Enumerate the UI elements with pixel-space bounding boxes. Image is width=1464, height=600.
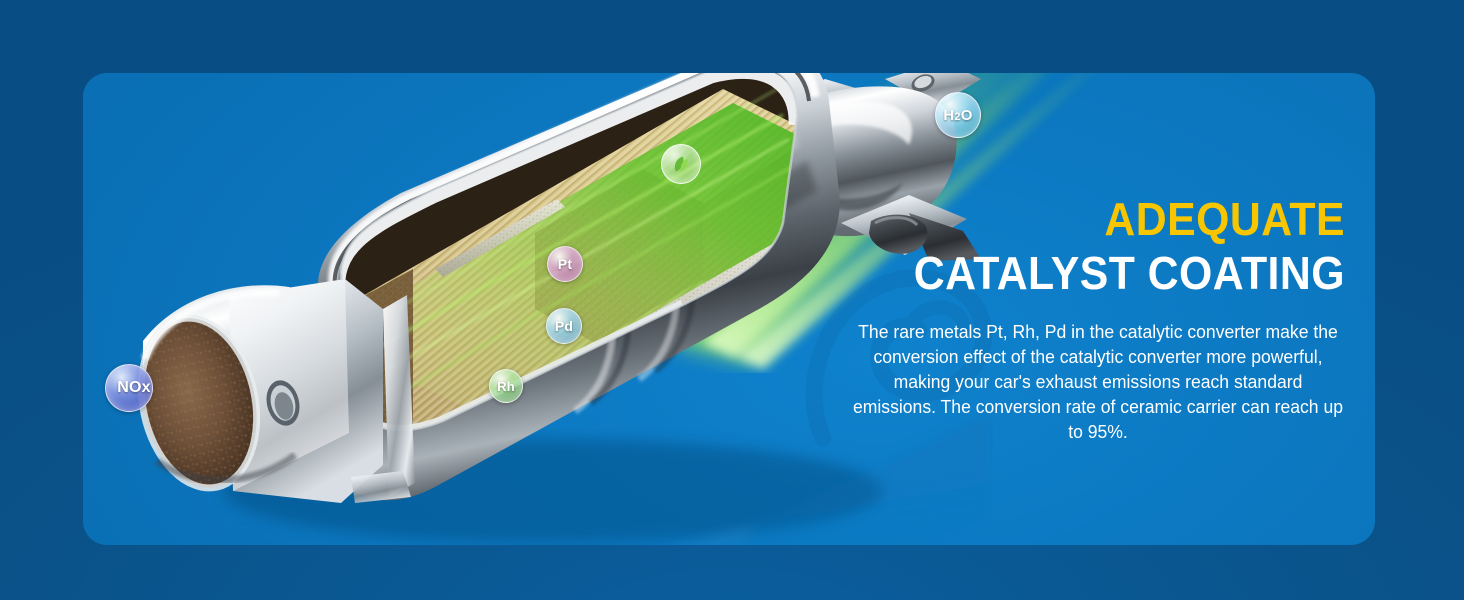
- nox-molecule-badge: NOx: [105, 364, 153, 412]
- promo-banner: Pt Pd Rh H2O NOx ADEQUATE CATALYST COATI…: [0, 0, 1464, 600]
- body-paragraph: The rare metals Pt, Rh, Pd in the cataly…: [851, 319, 1345, 444]
- palladium-label: Pd: [555, 318, 573, 334]
- water-label: H2O: [943, 107, 972, 124]
- product-feature-card: Pt Pd Rh H2O NOx ADEQUATE CATALYST COATI…: [83, 73, 1375, 545]
- platinum-badge: Pt: [547, 246, 583, 282]
- platinum-label: Pt: [558, 256, 572, 272]
- headline-accent: ADEQUATE: [861, 193, 1345, 245]
- headline-primary: CATALYST COATING: [861, 245, 1345, 301]
- palladium-badge: Pd: [546, 308, 582, 344]
- rhodium-label: Rh: [497, 379, 515, 394]
- nox-label: NOx: [117, 379, 151, 397]
- inlet-flange: [126, 279, 383, 503]
- eco-leaf-badge: [661, 144, 701, 184]
- water-molecule-badge: H2O: [935, 92, 981, 138]
- rhodium-badge: Rh: [489, 369, 523, 403]
- copy-block: ADEQUATE CATALYST COATING The rare metal…: [825, 193, 1345, 444]
- leaf-icon: [668, 151, 694, 177]
